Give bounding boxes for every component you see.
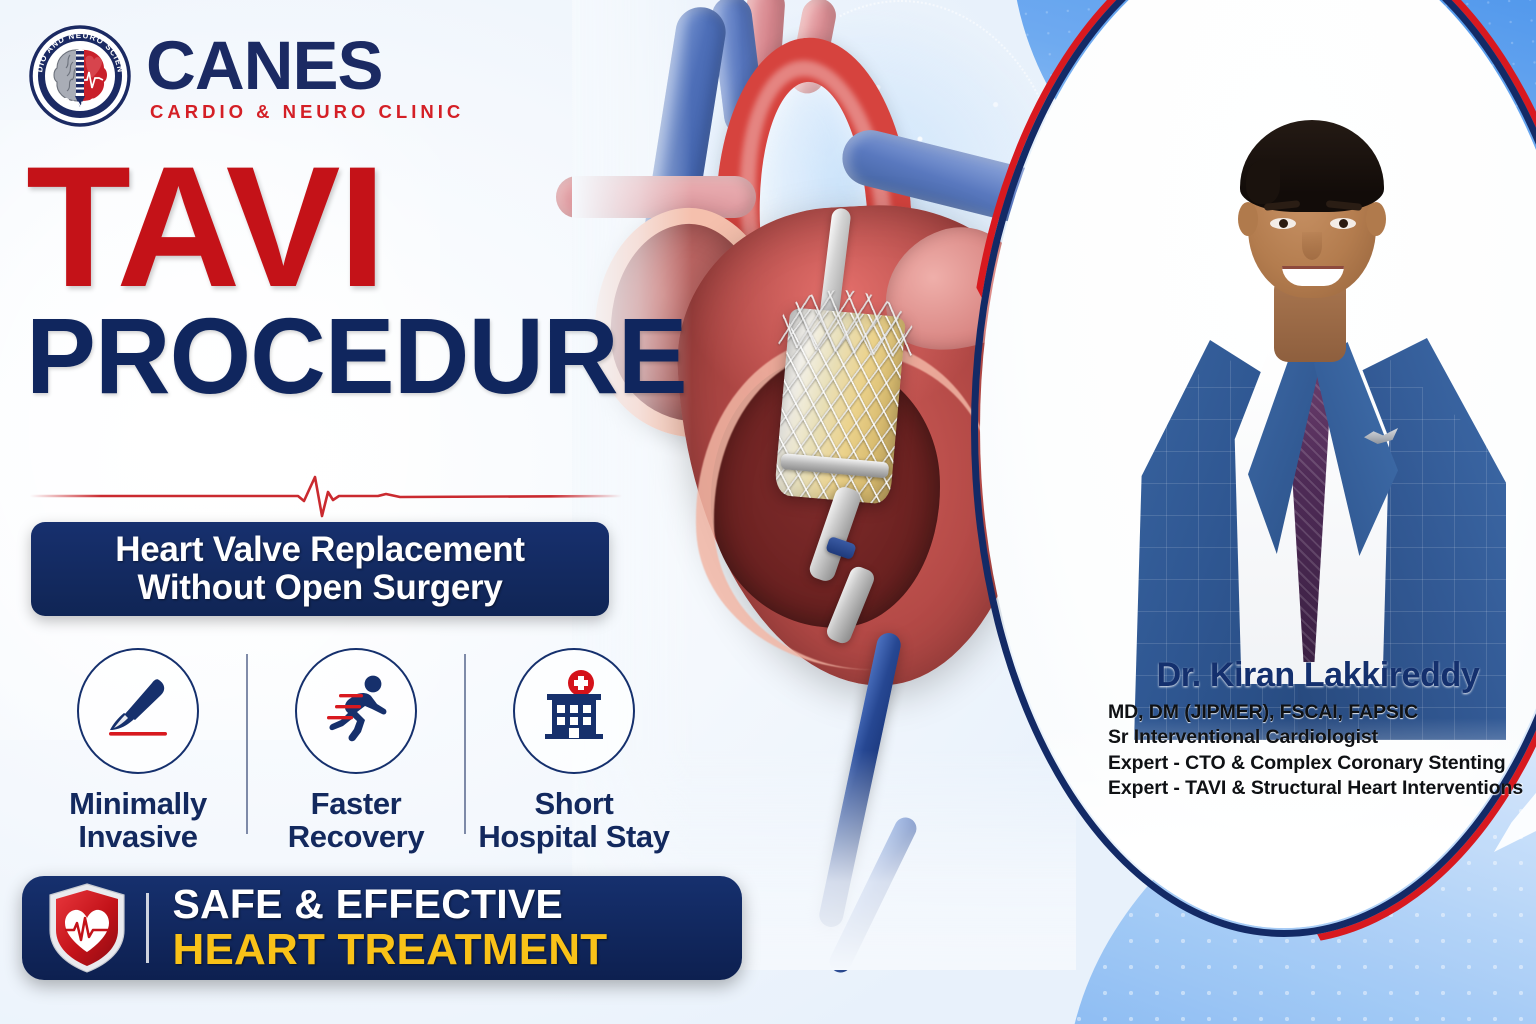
running-person-icon <box>313 666 399 757</box>
banner-divider <box>146 893 149 963</box>
tavi-procedure-poster: CARDIO AND NEURO SCIENCES CANES CANES CA… <box>0 0 1536 1024</box>
benefit-item-short-hospital-stay: Short Hospital Stay <box>466 648 682 854</box>
benefit-divider <box>464 654 466 834</box>
benefit-icon-circle <box>295 648 417 774</box>
benefit-label: Minimally Invasive <box>69 788 207 854</box>
headline-line-1: TAVI <box>26 152 707 303</box>
brain-spine-heart-emblem-icon: CARDIO AND NEURO SCIENCES CANES <box>26 22 134 130</box>
safe-effective-banner: SAFE & EFFECTIVE HEART TREATMENT <box>22 876 742 980</box>
page-title: TAVI PROCEDURE <box>26 152 707 408</box>
benefit-label: Faster Recovery <box>288 788 424 854</box>
subtitle-line-2: Without Open Surgery <box>137 569 502 607</box>
list-item: Sr Interventional Cardiologist <box>1108 725 1528 750</box>
benefit-icon-circle <box>77 648 199 774</box>
benefit-label-line-1: Short <box>535 786 614 821</box>
doctor-credentials-list: MD, DM (JIPMER), FSCAI, FAPSIC Sr Interv… <box>1108 700 1528 801</box>
banner-line-2: HEART TREATMENT <box>173 928 608 972</box>
eye-left <box>1270 218 1296 229</box>
hospital-building-icon <box>531 666 617 757</box>
banner-text: SAFE & EFFECTIVE HEART TREATMENT <box>167 884 608 972</box>
brand-wordmark: CANES CARDIO & NEURO CLINIC <box>146 31 464 122</box>
benefit-label-line-2: Hospital Stay <box>478 819 669 854</box>
list-item: MD, DM (JIPMER), FSCAI, FAPSIC <box>1108 700 1528 725</box>
benefit-label: Short Hospital Stay <box>478 788 669 854</box>
benefit-label-line-2: Recovery <box>288 819 424 854</box>
benefit-icon-circle <box>513 648 635 774</box>
brand-name: CANES <box>146 31 464 100</box>
ear-left <box>1238 202 1258 236</box>
list-item: Expert - TAVI & Structural Heart Interve… <box>1108 776 1528 801</box>
ear-right <box>1366 202 1386 236</box>
doctor-info: Dr. Kiran Lakkireddy MD, DM (JIPMER), FS… <box>1108 656 1528 801</box>
benefit-item-minimally-invasive: Minimally Invasive <box>30 648 246 854</box>
doctor-portrait-frame <box>964 0 1536 944</box>
doctor-name: Dr. Kiran Lakkireddy <box>1108 656 1528 695</box>
headline-line-2: PROCEDURE <box>26 305 687 408</box>
brand-logo: CARDIO AND NEURO SCIENCES CANES CANES CA… <box>26 22 464 130</box>
benefit-label-line-2: Invasive <box>78 819 197 854</box>
eye-right <box>1330 218 1356 229</box>
ecg-heartbeat-line-icon <box>26 470 626 522</box>
subtitle-banner: Heart Valve Replacement Without Open Sur… <box>31 522 609 616</box>
scalpel-icon <box>95 666 181 757</box>
brand-tagline: CARDIO & NEURO CLINIC <box>146 103 464 122</box>
benefit-label-line-1: Minimally <box>69 786 207 821</box>
benefit-divider <box>246 654 248 834</box>
benefits-row: Minimally Invasive Fa <box>30 648 730 858</box>
tavi-stent-valve-icon <box>774 307 906 504</box>
nose <box>1302 232 1322 260</box>
hair <box>1240 120 1384 212</box>
banner-line-1: SAFE & EFFECTIVE <box>173 884 608 925</box>
subtitle-line-1: Heart Valve Replacement <box>115 531 524 569</box>
shield-heart-ecg-icon <box>46 882 128 974</box>
benefit-label-line-1: Faster <box>311 786 402 821</box>
list-item: Expert - CTO & Complex Coronary Stenting <box>1108 751 1528 776</box>
benefit-item-faster-recovery: Faster Recovery <box>248 648 464 854</box>
